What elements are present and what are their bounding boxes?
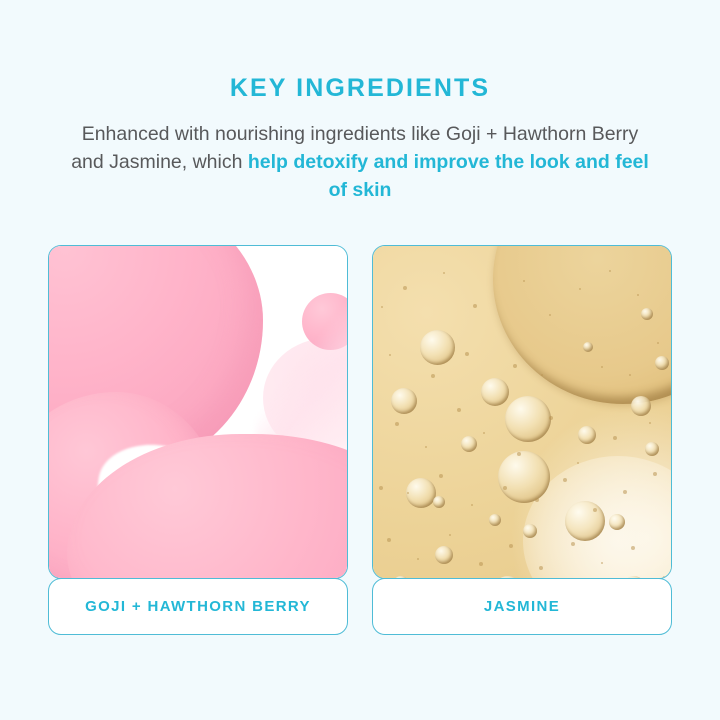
oil-bubble: [655, 356, 669, 370]
oil-speck: [577, 462, 579, 464]
oil-speck: [653, 472, 657, 476]
ingredient-card-caption-jasmine: JASMINE: [372, 578, 672, 635]
oil-speck: [539, 566, 543, 570]
oil-speck: [563, 478, 567, 482]
oil-speck: [629, 374, 631, 376]
oil-speck: [473, 304, 477, 308]
oil-speck: [579, 288, 581, 290]
oil-bubble: [609, 514, 625, 530]
oil-speck: [609, 270, 611, 272]
oil-speck: [381, 306, 383, 308]
oil-speck: [571, 542, 575, 546]
description-line-1: Enhanced with nourishing ingredients lik…: [82, 123, 498, 145]
oil-speck: [623, 490, 627, 494]
oil-speck: [431, 374, 435, 378]
oil-bubble: [420, 330, 455, 365]
oil-bubble: [435, 546, 453, 564]
oil-speck: [465, 352, 469, 356]
oil-bubble: [641, 308, 653, 320]
oil-large-droplet: [493, 245, 672, 404]
pink-bubble-artwork: [49, 246, 347, 578]
oil-bubble: [645, 442, 659, 456]
page-title: KEY INGREDIENTS: [0, 74, 720, 103]
oil-bubble: [631, 396, 651, 416]
oil-speck: [601, 366, 603, 368]
oil-speck: [657, 342, 659, 344]
description-text: Enhanced with nourishing ingredients lik…: [70, 120, 650, 204]
oil-speck: [535, 498, 539, 502]
oil-speck: [663, 576, 665, 578]
description-highlight-2: and improve the look and feel of skin: [329, 151, 649, 201]
ingredient-card-goji-hawthorn-berry[interactable]: GOJI + HAWTHORN BERRY: [48, 245, 348, 635]
oil-speck: [509, 544, 513, 548]
golden-oil-artwork: [373, 246, 671, 578]
oil-speck: [593, 508, 597, 512]
oil-speck: [417, 558, 419, 560]
oil-speck: [457, 408, 461, 412]
oil-bubble: [578, 426, 596, 444]
oil-speck: [517, 452, 521, 456]
oil-speck: [449, 534, 451, 536]
oil-speck: [637, 294, 639, 296]
ingredient-card-jasmine[interactable]: JASMINE: [372, 245, 672, 635]
oil-bubble: [498, 451, 550, 503]
goji-bubbles-image: [48, 245, 348, 579]
oil-bubble: [489, 514, 501, 526]
oil-speck: [379, 486, 383, 490]
oil-speck: [389, 354, 391, 356]
oil-speck: [613, 436, 617, 440]
oil-speck: [483, 432, 485, 434]
oil-speck: [549, 416, 553, 420]
oil-speck: [395, 422, 399, 426]
oil-speck: [513, 364, 517, 368]
oil-bubble: [565, 501, 605, 541]
oil-speck: [403, 286, 407, 290]
oil-speck: [425, 446, 427, 448]
oil-speck: [439, 474, 443, 478]
oil-bubble: [433, 496, 445, 508]
ingredients-panel: KEY INGREDIENTS Enhanced with nourishing…: [0, 0, 720, 720]
ingredient-card-caption-goji: GOJI + HAWTHORN BERRY: [48, 578, 348, 635]
oil-speck: [601, 562, 603, 564]
oil-speck: [471, 504, 473, 506]
oil-speck: [407, 492, 409, 494]
oil-speck: [503, 486, 507, 490]
oil-speck: [631, 546, 635, 550]
oil-speck: [479, 562, 483, 566]
oil-speck: [523, 280, 525, 282]
oil-speck: [387, 538, 391, 542]
oil-bubble: [481, 378, 509, 406]
oil-bubble: [391, 388, 417, 414]
oil-speck: [649, 422, 651, 424]
oil-bubble: [523, 524, 537, 538]
oil-speck: [541, 374, 543, 376]
oil-bubble: [406, 478, 436, 508]
oil-bubble: [583, 342, 593, 352]
ingredient-card-list: GOJI + HAWTHORN BERRY JASMINE: [48, 245, 672, 635]
oil-speck: [443, 272, 445, 274]
description-highlight-1: help detoxify: [248, 151, 368, 173]
oil-speck: [549, 314, 551, 316]
oil-bubble: [461, 436, 477, 452]
oil-bubble: [505, 396, 551, 442]
jasmine-oil-image: [372, 245, 672, 579]
